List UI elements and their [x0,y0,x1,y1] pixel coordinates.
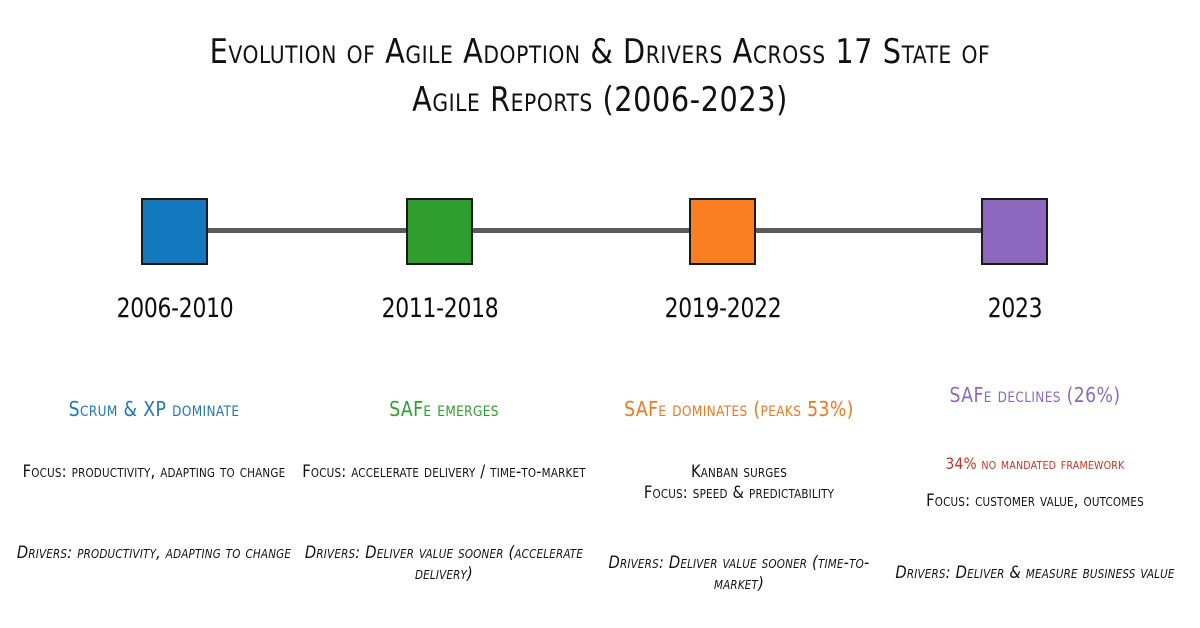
timeline-label-2011-2018: 2011-2018 [332,293,548,324]
timeline-node-2011-2018 [406,198,473,265]
period-drivers-2006-2010: Drivers: productivity, adapting to chang… [10,543,298,564]
period-focus-2023: Focus: customer value, outcomes [880,491,1189,512]
period-focus-2006-2010: Focus: productivity, adapting to change [10,462,298,483]
timeline-connector-line [175,228,1015,233]
period-headline-2019-2022: SAFe dominates (peaks 53%) [590,396,888,422]
period-headline-2006-2010: Scrum & XP dominate [10,396,298,422]
period-alert-2023: 34% no mandated framework [880,454,1189,474]
period-drivers-2019-2022: Drivers: Deliver value sooner (time-to-m… [590,553,888,594]
timeline-node-2023 [981,198,1048,265]
timeline-node-2019-2022 [689,198,756,265]
infographic-canvas: Evolution of Agile Adoption & Drivers Ac… [0,0,1200,628]
period-headline-2011-2018: SAFe emerges [300,396,588,422]
timeline-label-2019-2022: 2019-2022 [615,293,831,324]
period-drivers-2023: Drivers: Deliver & measure business valu… [880,563,1189,584]
period-extra-2019-2022: Kanban surges [590,462,888,483]
period-headline-2023: SAFe declines (26%) [880,382,1189,408]
period-drivers-2011-2018: Drivers: Deliver value sooner (accelerat… [300,543,588,584]
timeline-label-2023: 2023 [907,293,1123,324]
period-focus-2011-2018: Focus: accelerate delivery / time-to-mar… [300,462,588,483]
timeline-node-2006-2010 [141,198,208,265]
timeline-label-2006-2010: 2006-2010 [67,293,283,324]
timeline: 2006-2010 2011-2018 2019-2022 2023 [0,0,1200,330]
period-focus-2019-2022: Focus: speed & predictability [590,483,888,504]
